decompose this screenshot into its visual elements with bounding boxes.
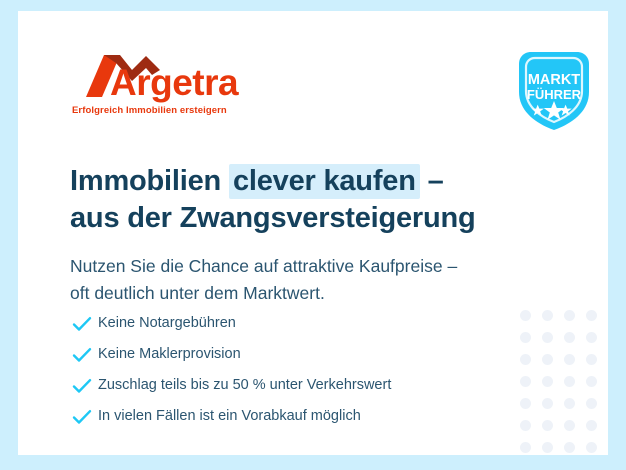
headline-line-1: Immobilien clever kaufen – [70, 163, 540, 200]
shield-icon: MARKT FÜHRER [509, 48, 599, 134]
logo-tagline: Erfolgreich Immobilien ersteigern [72, 105, 227, 116]
list-item-label: In vielen Fällen ist ein Vorabkauf mögli… [98, 409, 361, 424]
list-item-label: Keine Notargebühren [98, 316, 236, 331]
check-icon [72, 378, 98, 394]
list-item: Keine Maklerprovision [72, 339, 542, 370]
headline-pre: Immobilien [70, 165, 229, 197]
content-card: Argetra Erfolgreich Immobilien ersteiger… [18, 11, 608, 455]
subheading-line-1: Nutzen Sie die Chance auf attraktive Kau… [70, 253, 550, 280]
poster-canvas: Argetra Erfolgreich Immobilien ersteiger… [0, 0, 626, 470]
benefit-list: Keine Notargebühren Keine Maklerprovisio… [72, 308, 542, 432]
svg-text:Argetra: Argetra [110, 62, 239, 103]
headline-highlight: clever kaufen [229, 164, 420, 199]
badge-line1: MARKT [528, 72, 580, 88]
markt-fuehrer-badge: MARKT FÜHRER [509, 48, 599, 134]
badge-line2: FÜHRER [527, 87, 582, 102]
argetra-logo[interactable]: Argetra Erfolgreich Immobilien ersteiger… [72, 53, 262, 121]
list-item: In vielen Fällen ist ein Vorabkauf mögli… [72, 401, 542, 432]
list-item: Keine Notargebühren [72, 308, 542, 339]
list-item: Zuschlag teils bis zu 50 % unter Verkehr… [72, 370, 542, 401]
check-icon [72, 347, 98, 363]
headline-line-2: aus der Zwangsversteigerung [70, 200, 540, 237]
subheading-line-2: oft deutlich unter dem Marktwert. [70, 280, 550, 307]
check-icon [72, 409, 98, 425]
headline: Immobilien clever kaufen – aus der Zwang… [70, 163, 540, 237]
list-item-label: Zuschlag teils bis zu 50 % unter Verkehr… [98, 378, 391, 393]
subheading: Nutzen Sie die Chance auf attraktive Kau… [70, 253, 550, 307]
headline-post: – [420, 165, 444, 197]
check-icon [72, 316, 98, 332]
list-item-label: Keine Maklerprovision [98, 347, 241, 362]
argetra-logo-mark: Argetra [72, 53, 262, 103]
